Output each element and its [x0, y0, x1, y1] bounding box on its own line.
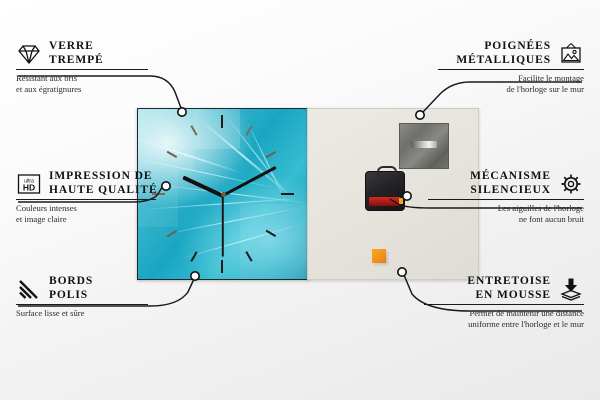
- feature-title-line1: IMPRESSION DE: [49, 170, 158, 184]
- foam-spacer: [372, 249, 386, 263]
- feature-desc-line1: Couleurs intenses: [16, 203, 176, 214]
- svg-text:HD: HD: [23, 182, 35, 192]
- feature-desc-line2: ne font aucun bruit: [414, 214, 584, 225]
- feature-title-line1: BORDS: [49, 275, 93, 289]
- hanging-frame-icon: [558, 42, 584, 66]
- feature-rule: [424, 304, 584, 305]
- diamond-icon: [16, 42, 42, 66]
- ultra-hd-icon: ultra HD: [16, 172, 42, 196]
- feature-desc-line1: Facilite le montage: [424, 73, 584, 84]
- feature-desc-line1: Permet de maintenir une distance: [412, 308, 584, 319]
- feature-title-line2: EN MOUSSE: [467, 289, 551, 303]
- feature-title-line2: HAUTE QUALITÉ: [49, 184, 158, 198]
- battery: [369, 197, 400, 206]
- feature-verre-trempe: VERRE TREMPÉ Résistant aux bris et aux é…: [16, 40, 166, 95]
- battery-terminal: [399, 198, 403, 204]
- feature-title-line2: POLIS: [49, 289, 93, 303]
- mechanism-hanging-loop: [377, 166, 397, 177]
- clock-second-hand: [222, 195, 224, 257]
- clock-hour-hand: [182, 176, 224, 198]
- feature-entretoise-en-mousse: ENTRETOISE EN MOUSSE Permet de maintenir…: [412, 275, 584, 330]
- feature-title-line2: MÉTALLIQUES: [456, 54, 551, 68]
- infographic-canvas: VERRE TREMPÉ Résistant aux bris et aux é…: [0, 0, 600, 400]
- feature-rule: [16, 304, 148, 305]
- clock-hand-hub: [221, 192, 226, 197]
- feature-desc-line2: de l'horloge sur le mur: [424, 84, 584, 95]
- feature-title-line1: POIGNÉES: [456, 40, 551, 54]
- feature-title-line1: ENTRETOISE: [467, 275, 551, 289]
- feature-impression-haute-qualite: ultra HD IMPRESSION DE HAUTE QUALITÉ Cou…: [16, 170, 176, 225]
- clock-mechanism-box: [365, 171, 405, 211]
- feature-mecanisme-silencieux: MÉCANISME SILENCIEUX Les aiguilles de l'…: [414, 170, 584, 225]
- feature-bords-polis: BORDS POLIS Surface lisse et sûre: [16, 275, 166, 319]
- feature-title-line2: TREMPÉ: [49, 54, 104, 68]
- feature-rule: [16, 69, 148, 70]
- feature-title-line2: SILENCIEUX: [470, 184, 551, 198]
- feature-rule: [438, 69, 584, 70]
- feature-desc-line2: et image claire: [16, 214, 176, 225]
- clock-minute-hand: [222, 166, 277, 197]
- feature-title-line1: MÉCANISME: [470, 170, 551, 184]
- feature-desc-line1: Résistant aux bris: [16, 73, 166, 84]
- feature-desc-line1: Surface lisse et sûre: [16, 308, 166, 319]
- gear-icon: [558, 172, 584, 196]
- feature-title-line1: VERRE: [49, 40, 104, 54]
- feature-desc-line1: Les aiguilles de l'horloge: [414, 203, 584, 214]
- foam-spacer-icon: [558, 277, 584, 301]
- feature-desc-line2: uniforme entre l'horloge et le mur: [412, 319, 584, 330]
- feature-rule: [16, 199, 156, 200]
- polished-edges-icon: [16, 277, 42, 301]
- hanger-keyhole-slot: [411, 141, 437, 148]
- feature-desc-line2: et aux égratignures: [16, 84, 166, 95]
- metal-hanger-plate: [399, 123, 449, 169]
- feature-rule: [428, 199, 584, 200]
- feature-poignees-metalliques: POIGNÉES MÉTALLIQUES Facilite le montage…: [424, 40, 584, 95]
